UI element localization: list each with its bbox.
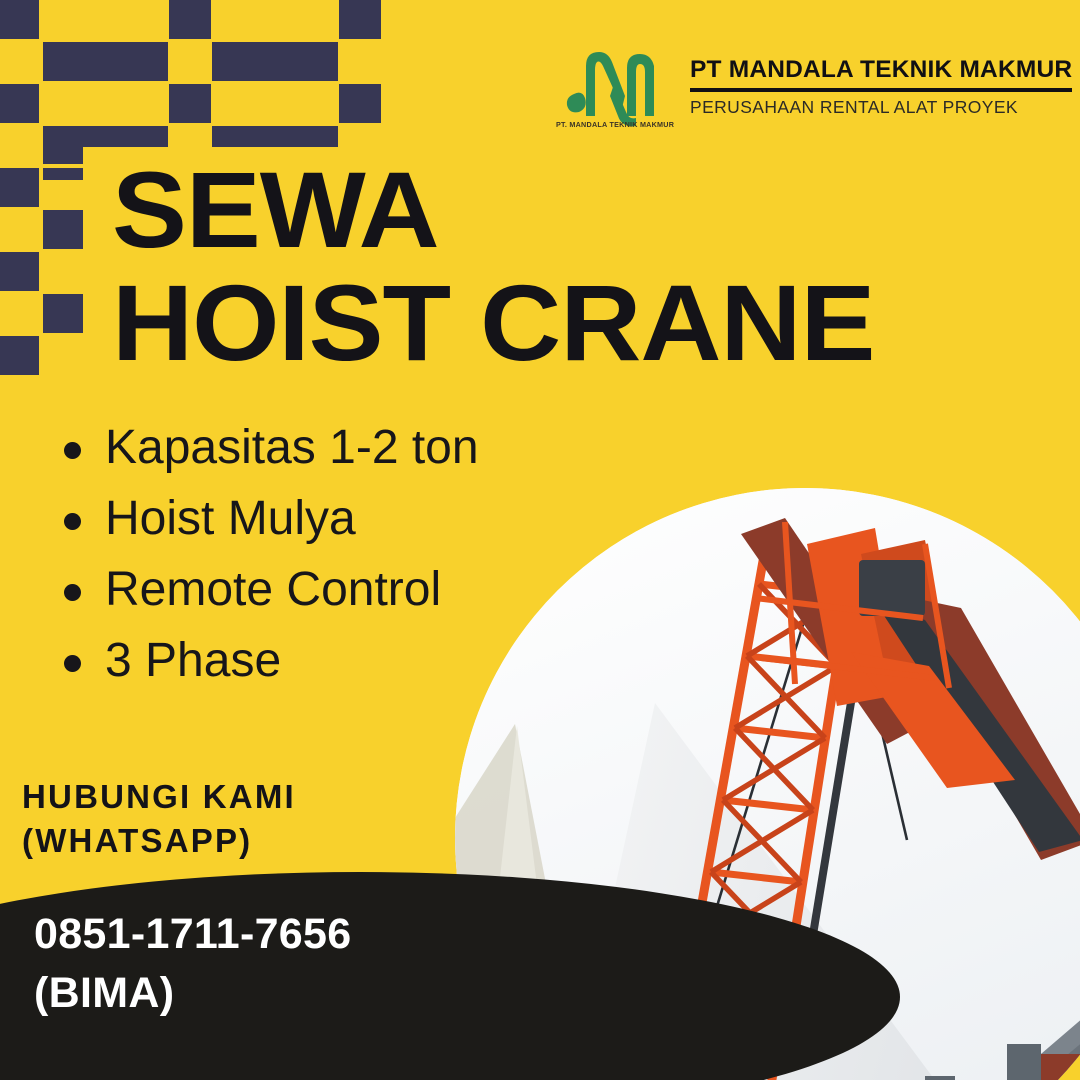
feature-label: 3 Phase xyxy=(105,637,281,685)
bullet-dot-icon xyxy=(64,442,81,459)
contact-heading-line-1: HUBUNGI KAMI xyxy=(22,775,296,819)
bullet-dot-icon xyxy=(64,513,81,530)
headline-line-1: SEWA xyxy=(112,158,874,263)
feature-label: Remote Control xyxy=(105,566,441,614)
company-name: PT MANDALA TEKNIK MAKMUR xyxy=(690,57,1072,83)
list-item: 3 Phase xyxy=(64,637,479,685)
headline-line-2: HOIST CRANE xyxy=(112,271,874,376)
phone-block[interactable]: 0851-1711-7656 (BIMA) xyxy=(34,905,351,1024)
contact-person: (BIMA) xyxy=(34,964,351,1023)
bullet-dot-icon xyxy=(64,584,81,601)
contact-heading: HUBUNGI KAMI (WHATSAPP) xyxy=(22,775,296,862)
company-logo-block: PT. MANDALA TEKNIK MAKMUR PT MANDALA TEK… xyxy=(556,44,1072,128)
list-item: Hoist Mulya xyxy=(64,495,479,543)
feature-label: Kapasitas 1-2 ton xyxy=(105,424,479,472)
feature-list: Kapasitas 1-2 ton Hoist Mulya Remote Con… xyxy=(64,424,479,708)
list-item: Remote Control xyxy=(64,566,479,614)
feature-label: Hoist Mulya xyxy=(105,495,356,543)
logo-subtext: PT. MANDALA TEKNIK MAKMUR xyxy=(556,120,674,129)
logo-divider xyxy=(690,88,1072,92)
list-item: Kapasitas 1-2 ton xyxy=(64,424,479,472)
contact-heading-line-2: (WHATSAPP) xyxy=(22,819,296,863)
page-title: SEWA HOIST CRANE xyxy=(112,158,845,376)
company-m-logo-icon: PT. MANDALA TEKNIK MAKMUR xyxy=(556,44,674,128)
company-tagline: PERUSAHAAN RENTAL ALAT PROYEK xyxy=(690,98,1072,116)
phone-number[interactable]: 0851-1711-7656 xyxy=(34,905,351,964)
bullet-dot-icon xyxy=(64,655,81,672)
poster-canvas: PT. MANDALA TEKNIK MAKMUR PT MANDALA TEK… xyxy=(0,0,1080,1080)
